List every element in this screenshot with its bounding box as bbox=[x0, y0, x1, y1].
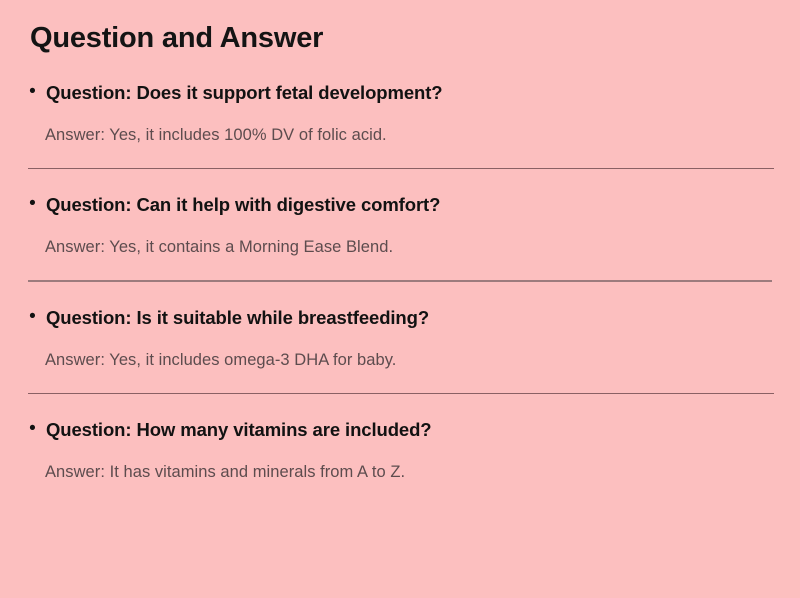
question-row: • Question: How many vitamins are includ… bbox=[28, 394, 772, 441]
page-title: Question and Answer bbox=[30, 0, 772, 55]
bullet-icon: • bbox=[28, 418, 37, 440]
question-text: Question: Is it suitable while breastfee… bbox=[46, 306, 429, 329]
qa-list: • Question: Does it support fetal develo… bbox=[28, 81, 772, 483]
question-text: Question: How many vitamins are included… bbox=[46, 418, 432, 441]
question-text: Question: Can it help with digestive com… bbox=[46, 193, 440, 216]
answer-text: Answer: Yes, it includes omega-3 DHA for… bbox=[45, 349, 772, 371]
qa-item: • Question: Can it help with digestive c… bbox=[28, 169, 772, 282]
bullet-icon: • bbox=[28, 193, 37, 215]
answer-text: Answer: Yes, it includes 100% DV of foli… bbox=[45, 124, 772, 146]
question-row: • Question: Can it help with digestive c… bbox=[28, 169, 772, 216]
question-row: • Question: Does it support fetal develo… bbox=[28, 81, 772, 104]
slide-canvas: Question and Answer • Question: Does it … bbox=[0, 0, 800, 598]
answer-text: Answer: It has vitamins and minerals fro… bbox=[45, 461, 772, 483]
question-row: • Question: Is it suitable while breastf… bbox=[28, 282, 772, 329]
answer-text: Answer: Yes, it contains a Morning Ease … bbox=[45, 236, 772, 258]
qa-item: • Question: Is it suitable while breastf… bbox=[28, 282, 772, 394]
bullet-icon: • bbox=[28, 306, 37, 328]
qa-item: • Question: How many vitamins are includ… bbox=[28, 394, 772, 483]
qa-item: • Question: Does it support fetal develo… bbox=[28, 81, 772, 169]
question-text: Question: Does it support fetal developm… bbox=[46, 81, 442, 104]
bullet-icon: • bbox=[28, 81, 37, 103]
